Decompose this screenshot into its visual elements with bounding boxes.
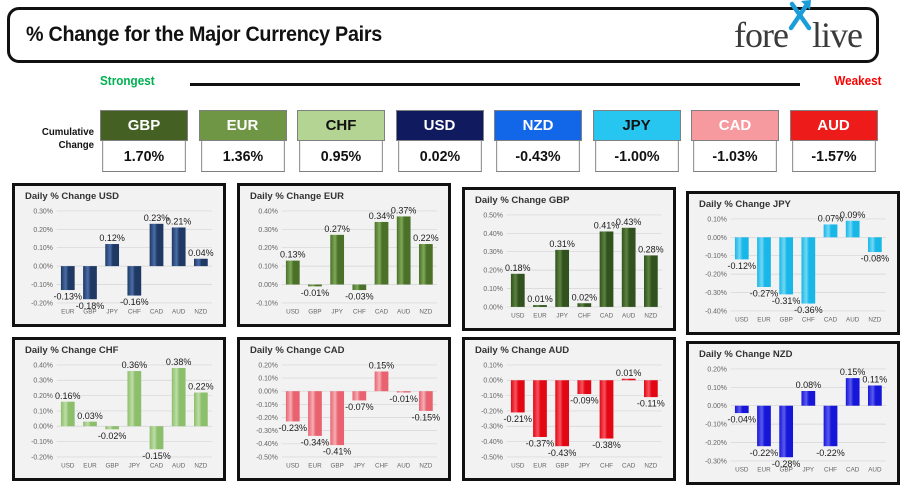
- bar-value-label: -0.38%: [592, 440, 621, 450]
- y-tick-label: 0.00%: [707, 235, 727, 242]
- y-tick-label: 0.40%: [33, 362, 53, 369]
- bar: [555, 250, 569, 307]
- currency-cumulative-value: -1.03%: [693, 141, 777, 172]
- y-tick-label: -0.20%: [31, 300, 53, 307]
- currency-card-chf: CHF0.95%: [297, 110, 385, 172]
- y-tick-label: 0.10%: [258, 264, 278, 271]
- y-tick-label: 0.10%: [483, 286, 503, 293]
- bar-value-label: -0.23%: [279, 423, 308, 433]
- y-tick-label: 0.40%: [483, 231, 503, 238]
- currency-cumulative-value: 1.70%: [102, 141, 186, 172]
- currency-code: GBP: [100, 110, 188, 141]
- chart-panel-cad: Daily % Change CAD-0.50%-0.40%-0.30%-0.2…: [237, 337, 451, 481]
- y-tick-label: -0.10%: [256, 300, 278, 307]
- bar: [172, 227, 186, 266]
- y-tick-label: -0.50%: [256, 454, 278, 461]
- x-category-label: USD: [511, 462, 525, 469]
- x-category-label: EUR: [757, 466, 771, 473]
- bar-value-label: -0.22%: [750, 448, 779, 458]
- x-category-label: NZD: [868, 316, 881, 323]
- y-tick-label: -0.10%: [705, 253, 727, 260]
- bar-value-label: -0.08%: [861, 254, 890, 264]
- y-tick-label: -0.30%: [705, 290, 727, 297]
- bar-value-label: 0.31%: [549, 239, 575, 249]
- page-title: % Change for the Major Currency Pairs: [26, 23, 382, 47]
- x-category-label: CHF: [353, 308, 366, 315]
- bar: [824, 406, 838, 446]
- x-category-label: CHF: [375, 462, 388, 469]
- bar: [735, 406, 749, 413]
- bar: [757, 406, 771, 446]
- bar: [397, 216, 411, 284]
- bar-value-label: 0.16%: [55, 391, 81, 401]
- bar-value-label: 0.04%: [188, 248, 214, 258]
- bar: [555, 380, 569, 446]
- y-tick-label: 0.20%: [258, 245, 278, 252]
- bar: [61, 266, 75, 290]
- bar: [779, 237, 793, 294]
- bar-value-label: 0.38%: [166, 357, 192, 367]
- chart-panel-gbp: Daily % Change GBP0.00%0.10%0.20%0.30%0.…: [462, 187, 676, 331]
- bar-value-label: -0.03%: [345, 292, 374, 302]
- x-category-label: USD: [735, 466, 749, 473]
- bar-value-label: 0.21%: [166, 217, 192, 227]
- currency-card-eur: EUR1.36%: [199, 110, 287, 172]
- y-tick-label: 0.00%: [33, 424, 53, 431]
- chart-panel-jpy: Daily % Change JPY-0.40%-0.30%-0.20%-0.1…: [686, 191, 900, 335]
- chart-panel-chf: Daily % Change CHF-0.20%-0.10%0.00%0.10%…: [12, 337, 226, 481]
- bar: [622, 228, 636, 307]
- x-category-label: JPY: [331, 308, 343, 315]
- strongest-label: Strongest: [100, 73, 155, 88]
- x-category-label: AUD: [622, 312, 636, 319]
- y-tick-label: -0.20%: [481, 408, 503, 415]
- x-category-label: EUR: [83, 462, 97, 469]
- bar: [150, 426, 164, 449]
- bar: [330, 391, 344, 445]
- bar: [150, 224, 164, 266]
- chart-panel-eur: Daily % Change EUR-0.10%0.00%0.10%0.20%0…: [237, 183, 451, 327]
- bar-value-label: 0.22%: [188, 382, 214, 392]
- bar-value-label: -0.43%: [548, 448, 577, 458]
- header-bar: % Change for the Major Currency Pairs fo…: [7, 7, 879, 63]
- y-tick-label: 0.30%: [33, 208, 53, 215]
- bar: [308, 285, 322, 287]
- bar-chart: -0.10%0.00%0.10%0.20%0.30%0.40%0.13%USD-…: [240, 186, 448, 324]
- chart-panel-usd: Daily % Change USD-0.20%-0.10%0.00%0.10%…: [12, 183, 226, 327]
- bar: [61, 402, 75, 427]
- bar: [194, 393, 208, 427]
- x-category-label: USD: [286, 462, 300, 469]
- chart-panel-nzd: Daily % Change NZD-0.30%-0.20%-0.10%0.00…: [686, 341, 900, 485]
- bar-value-label: 0.09%: [840, 210, 866, 220]
- y-tick-label: -0.10%: [481, 393, 503, 400]
- x-category-label: JPY: [803, 466, 815, 473]
- bar-value-label: 0.12%: [99, 233, 125, 243]
- bar: [622, 379, 636, 381]
- cumulative-line2: Change: [24, 139, 94, 152]
- currency-code: EUR: [199, 110, 287, 141]
- bar-chart: -0.20%-0.10%0.00%0.10%0.20%0.30%-0.13%EU…: [15, 186, 223, 324]
- bar: [375, 371, 389, 391]
- bar-value-label: 0.27%: [324, 224, 350, 234]
- bar: [511, 380, 525, 412]
- bar-chart: -0.40%-0.30%-0.20%-0.10%0.00%0.10%-0.12%…: [689, 194, 897, 332]
- currency-ranking-row: Cumulative Change GBP1.70%EUR1.36%CHF0.9…: [0, 110, 900, 172]
- x-category-label: GBP: [779, 466, 792, 473]
- y-tick-label: 0.20%: [258, 362, 278, 369]
- bar: [533, 380, 547, 437]
- x-category-label: JPY: [556, 312, 568, 319]
- strength-scale: Strongest Weakest: [0, 73, 900, 97]
- bar-value-label: 0.18%: [505, 263, 531, 273]
- currency-code: NZD: [494, 110, 582, 141]
- bar: [644, 380, 658, 397]
- bar-value-label: -0.02%: [98, 431, 127, 441]
- currency-cumulative-value: -1.57%: [792, 141, 876, 172]
- bar: [375, 222, 389, 285]
- bar-value-label: 0.43%: [616, 217, 642, 227]
- bar-value-label: -0.04%: [728, 415, 757, 425]
- bar-value-label: -0.12%: [728, 261, 757, 271]
- y-tick-label: -0.30%: [481, 424, 503, 431]
- bar: [352, 285, 366, 291]
- y-tick-label: 0.10%: [707, 216, 727, 223]
- y-tick-label: -0.50%: [481, 454, 503, 461]
- x-category-label: USD: [735, 316, 749, 323]
- currency-code: CHF: [297, 110, 385, 141]
- bar-value-label: -0.36%: [794, 305, 823, 315]
- y-tick-label: -0.20%: [705, 440, 727, 447]
- currency-cumulative-value: -0.43%: [496, 141, 580, 172]
- bar: [83, 266, 97, 299]
- bar: [308, 391, 322, 436]
- bar: [824, 224, 838, 237]
- y-tick-label: 0.30%: [33, 378, 53, 385]
- x-arrow-icon: [788, 17, 812, 47]
- bar-chart: -0.50%-0.40%-0.30%-0.20%-0.10%0.00%0.10%…: [465, 340, 673, 478]
- y-tick-label: -0.20%: [31, 454, 53, 461]
- bar: [172, 368, 186, 426]
- x-category-label: CAD: [150, 308, 164, 315]
- bar: [533, 305, 547, 307]
- x-category-label: CHF: [578, 312, 591, 319]
- bar-value-label: -0.01%: [301, 288, 330, 298]
- bar: [511, 274, 525, 307]
- currency-cumulative-value: 0.95%: [299, 141, 383, 172]
- y-tick-label: 0.10%: [33, 408, 53, 415]
- bar-value-label: 0.11%: [862, 375, 887, 385]
- y-tick-label: 0.10%: [483, 362, 503, 369]
- currency-cumulative-value: -1.00%: [595, 141, 679, 172]
- bar-chart: 0.00%0.10%0.20%0.30%0.40%0.50%0.18%USD0.…: [465, 190, 673, 328]
- x-category-label: CHF: [600, 462, 613, 469]
- bar-value-label: -0.15%: [142, 451, 171, 461]
- bar: [644, 255, 658, 307]
- bar-value-label: 0.13%: [280, 250, 306, 260]
- x-category-label: NZD: [644, 312, 657, 319]
- bar-value-label: 0.15%: [369, 361, 395, 371]
- bar-value-label: 0.01%: [527, 294, 553, 304]
- bar: [286, 261, 300, 285]
- bar-chart: -0.30%-0.20%-0.10%0.00%0.10%0.20%-0.04%U…: [689, 344, 897, 482]
- logo-text-live: live: [812, 17, 862, 53]
- x-category-label: AUD: [172, 308, 186, 315]
- bar: [735, 237, 749, 259]
- bar-value-label: 0.02%: [572, 292, 598, 302]
- chart-panel-aud: Daily % Change AUD-0.50%-0.40%-0.30%-0.2…: [462, 337, 676, 481]
- currency-code: USD: [396, 110, 484, 141]
- bar: [779, 406, 793, 458]
- x-category-label: AUD: [868, 466, 882, 473]
- bar: [330, 235, 344, 285]
- x-category-label: GBP: [779, 316, 792, 323]
- x-category-label: EUR: [61, 308, 75, 315]
- bar: [194, 259, 208, 266]
- x-category-label: NZD: [419, 462, 432, 469]
- currency-card-cad: CAD-1.03%: [691, 110, 779, 172]
- y-tick-label: 0.00%: [483, 304, 503, 311]
- bar-value-label: -0.07%: [345, 402, 374, 412]
- y-tick-label: 0.20%: [707, 366, 727, 373]
- currency-code: JPY: [593, 110, 681, 141]
- x-category-label: USD: [286, 308, 300, 315]
- bar-value-label: -0.15%: [412, 413, 441, 423]
- currency-cumulative-value: 0.02%: [398, 141, 482, 172]
- bar-value-label: 0.37%: [391, 206, 417, 216]
- bar-value-label: 0.08%: [796, 380, 822, 390]
- x-category-label: USD: [61, 462, 75, 469]
- bar-value-label: 0.03%: [77, 411, 103, 421]
- y-tick-label: 0.00%: [33, 264, 53, 271]
- currency-card-gbp: GBP1.70%: [100, 110, 188, 172]
- x-category-label: NZD: [194, 308, 207, 315]
- y-tick-label: -0.20%: [705, 272, 727, 279]
- bar: [757, 237, 771, 287]
- bar: [868, 237, 882, 252]
- x-category-label: GBP: [308, 308, 321, 315]
- bar-chart: -0.50%-0.40%-0.30%-0.20%-0.10%0.00%0.10%…: [240, 340, 448, 478]
- bar-value-label: -0.16%: [120, 297, 149, 307]
- y-tick-label: 0.40%: [258, 208, 278, 215]
- x-category-label: CHF: [128, 308, 141, 315]
- x-category-label: GBP: [105, 462, 118, 469]
- bar: [801, 237, 815, 303]
- x-category-label: CAD: [375, 308, 389, 315]
- y-tick-label: 0.10%: [707, 385, 727, 392]
- bar: [127, 266, 141, 295]
- x-category-label: CHF: [824, 466, 837, 473]
- y-tick-label: 0.00%: [707, 403, 727, 410]
- x-category-label: AUD: [397, 308, 411, 315]
- bar-value-label: -0.01%: [389, 394, 418, 404]
- bar: [105, 244, 119, 266]
- bar-value-label: 0.22%: [413, 233, 439, 243]
- bar: [83, 422, 97, 427]
- x-category-label: GBP: [555, 462, 568, 469]
- currency-card-aud: AUD-1.57%: [790, 110, 878, 172]
- x-category-label: CAD: [824, 316, 838, 323]
- bar-chart: -0.20%-0.10%0.00%0.10%0.20%0.30%0.40%0.1…: [15, 340, 223, 478]
- y-tick-label: 0.30%: [483, 249, 503, 256]
- bar: [600, 231, 614, 306]
- currency-card-usd: USD0.02%: [396, 110, 484, 172]
- y-tick-label: 0.00%: [258, 282, 278, 289]
- y-tick-label: 0.30%: [258, 227, 278, 234]
- currency-code: AUD: [790, 110, 878, 141]
- currency-card-nzd: NZD-0.43%: [494, 110, 582, 172]
- bar-value-label: -0.11%: [637, 399, 665, 409]
- bar: [846, 378, 860, 406]
- bar: [577, 303, 591, 307]
- y-tick-label: 0.00%: [258, 389, 278, 396]
- bar: [600, 380, 614, 438]
- bar: [286, 391, 300, 421]
- x-category-label: EUR: [533, 312, 547, 319]
- weakest-label: Weakest: [835, 73, 882, 88]
- x-category-label: EUR: [308, 462, 322, 469]
- y-tick-label: 0.10%: [258, 376, 278, 383]
- y-tick-label: -0.10%: [256, 402, 278, 409]
- x-category-label: JPY: [354, 462, 366, 469]
- y-tick-label: -0.40%: [256, 441, 278, 448]
- bar: [868, 385, 882, 405]
- bar: [352, 391, 366, 400]
- y-tick-label: -0.20%: [256, 415, 278, 422]
- y-tick-label: 0.20%: [33, 227, 53, 234]
- x-category-label: GBP: [330, 462, 343, 469]
- x-category-label: USD: [511, 312, 525, 319]
- x-category-label: CAD: [600, 312, 614, 319]
- x-category-label: NZD: [194, 462, 207, 469]
- x-category-label: AUD: [172, 462, 186, 469]
- bar: [577, 380, 591, 394]
- bar: [801, 391, 815, 406]
- x-category-label: NZD: [419, 308, 432, 315]
- y-tick-label: -0.40%: [481, 439, 503, 446]
- cumulative-line1: Cumulative: [24, 126, 94, 139]
- bar: [846, 221, 860, 238]
- x-category-label: CAD: [150, 462, 164, 469]
- bar-value-label: -0.21%: [504, 414, 533, 424]
- y-tick-label: -0.40%: [705, 308, 727, 315]
- y-tick-label: 0.00%: [483, 378, 503, 385]
- bar-value-label: 0.36%: [122, 360, 148, 370]
- y-tick-label: -0.10%: [31, 282, 53, 289]
- bar-value-label: -0.41%: [323, 447, 352, 457]
- bar-value-label: 0.01%: [616, 368, 642, 378]
- scale-rule: [190, 83, 800, 86]
- x-category-label: JPY: [129, 462, 141, 469]
- y-tick-label: 0.10%: [33, 245, 53, 252]
- bar-value-label: 0.28%: [638, 245, 664, 255]
- forexlive-logo: fore live: [734, 17, 862, 53]
- x-category-label: GBP: [83, 308, 96, 315]
- bar: [419, 391, 433, 411]
- x-category-label: CAD: [846, 466, 860, 473]
- currency-cumulative-value: 1.36%: [201, 141, 285, 172]
- y-tick-label: -0.10%: [705, 422, 727, 429]
- currency-card-jpy: JPY-1.00%: [593, 110, 681, 172]
- y-tick-label: -0.30%: [256, 428, 278, 435]
- y-tick-label: -0.30%: [705, 458, 727, 465]
- y-tick-label: 0.20%: [483, 268, 503, 275]
- bar: [397, 391, 411, 392]
- bar: [127, 371, 141, 426]
- currency-code: CAD: [691, 110, 779, 141]
- x-category-label: CAD: [622, 462, 636, 469]
- cumulative-change-label: Cumulative Change: [24, 126, 94, 152]
- x-category-label: EUR: [757, 316, 771, 323]
- bar: [105, 426, 119, 429]
- x-category-label: EUR: [533, 462, 547, 469]
- y-tick-label: 0.20%: [33, 393, 53, 400]
- x-category-label: NZD: [644, 462, 657, 469]
- x-category-label: AUD: [397, 462, 411, 469]
- bar-value-label: -0.09%: [570, 396, 599, 406]
- x-category-label: AUD: [846, 316, 860, 323]
- y-tick-label: -0.10%: [31, 439, 53, 446]
- x-category-label: JPY: [106, 308, 118, 315]
- x-category-label: CHF: [802, 316, 815, 323]
- y-tick-label: 0.50%: [483, 212, 503, 219]
- logo-text-fore: fore: [734, 17, 788, 53]
- x-category-label: JPY: [579, 462, 591, 469]
- bar: [419, 244, 433, 284]
- bar-value-label: -0.22%: [816, 448, 845, 458]
